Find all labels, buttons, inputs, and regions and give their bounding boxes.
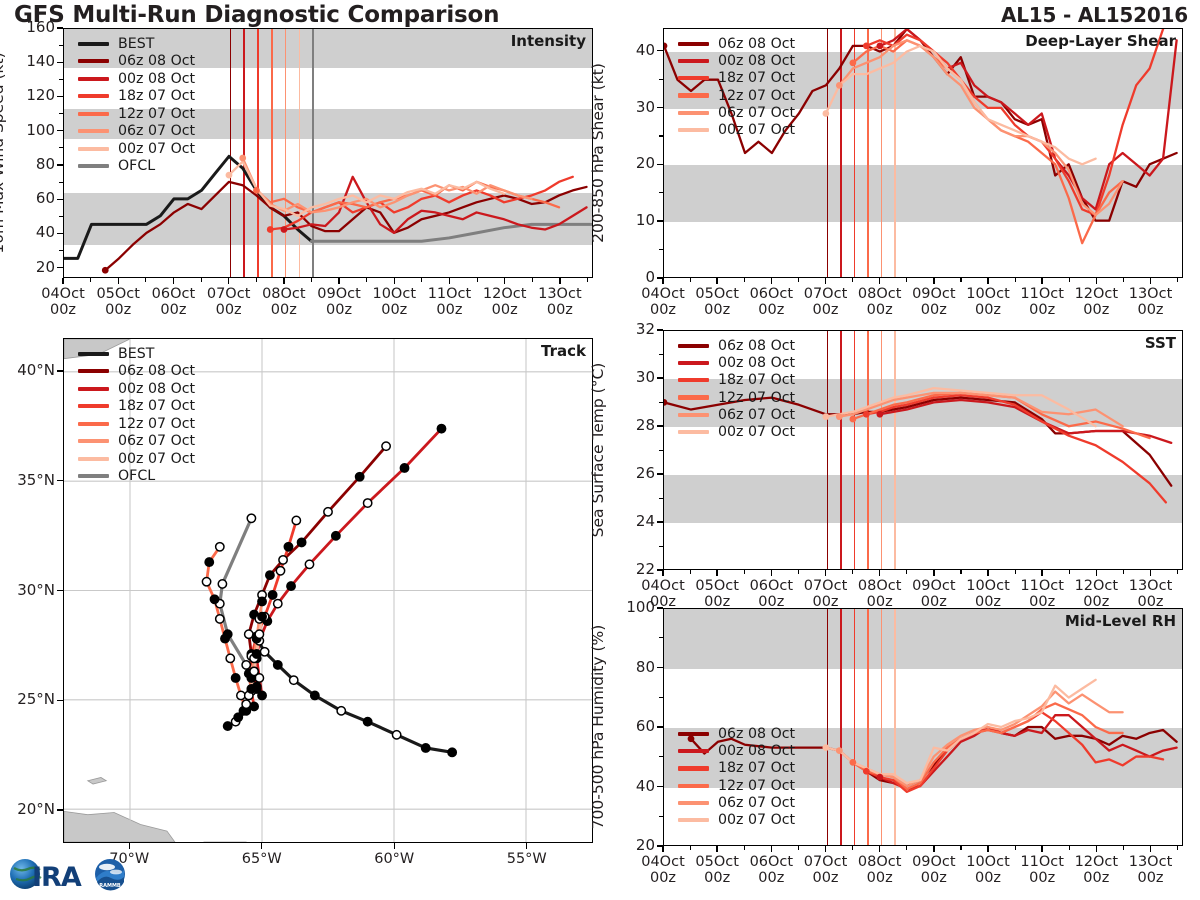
lat-tick-mark <box>57 480 63 481</box>
y-tick-label: 100 <box>9 121 55 139</box>
x-tick-day: 05Oct <box>695 854 739 870</box>
x-tick-hour: 00z <box>812 870 838 886</box>
lat-tick-label: 40°N <box>3 361 55 379</box>
legend-row: OFCL <box>78 468 195 486</box>
legend-label: 12z 07 Oct <box>718 778 795 794</box>
x-minor-tick <box>1123 278 1124 282</box>
track-marker-00z <box>210 595 218 603</box>
run-init-marker <box>876 774 883 781</box>
legend-swatch <box>78 164 109 168</box>
legend-swatch <box>678 128 709 132</box>
legend-label: 06z 07 Oct <box>118 123 195 139</box>
x-minor-tick <box>771 570 772 574</box>
y-tick-label: 20 <box>609 836 655 854</box>
y-minor-tick <box>59 96 63 97</box>
legend-label: 06z 07 Oct <box>718 105 795 121</box>
intensity-panel-title: Intensity <box>511 32 586 50</box>
legend-row: 18z 07 Oct <box>678 372 795 389</box>
x-minor-tick <box>118 278 119 282</box>
track-marker-00z <box>223 722 231 730</box>
x-minor-tick <box>1177 846 1178 850</box>
legend-swatch <box>678 378 709 382</box>
lon-tick-label: 55°W <box>487 851 567 867</box>
x-tick-hour: 00z <box>105 302 131 318</box>
series-line <box>880 29 1177 209</box>
shear-panel-title: Deep-Layer Shear <box>1025 32 1176 50</box>
legend-sst: 06z 08 Oct00z 08 Oct18z 07 Oct12z 07 Oct… <box>678 337 795 441</box>
lat-tick-mark <box>57 809 63 810</box>
lat-tick-mark <box>57 370 63 371</box>
y-minor-tick <box>659 330 663 331</box>
y-tick-label: 60 <box>609 717 655 735</box>
x-tick-hour: 00z <box>921 302 947 318</box>
run-init-marker <box>849 59 856 66</box>
x-tick-day: 11Oct <box>1020 854 1064 870</box>
x-tick-hour: 00z <box>1083 302 1109 318</box>
track-marker-00z <box>231 674 239 682</box>
x-minor-tick <box>1042 278 1043 282</box>
track-marker-00z <box>297 538 305 546</box>
x-minor-tick <box>663 278 664 282</box>
lon-tick-mark <box>394 843 395 849</box>
y-minor-tick <box>59 250 63 251</box>
x-tick-day: 10Oct <box>966 286 1010 302</box>
legend-row: 00z 07 Oct <box>78 140 195 158</box>
legend-intensity: BEST06z 08 Oct00z 08 Oct18z 07 Oct12z 07… <box>78 35 195 175</box>
shear-panel: Deep-Layer Shear 06z 08 Oct00z 08 Oct18z… <box>663 28 1183 278</box>
track-marker-00z <box>287 582 295 590</box>
legend-label: 18z 07 Oct <box>718 760 795 776</box>
x-minor-tick <box>663 570 664 574</box>
legend-swatch <box>78 439 109 443</box>
x-tick-day: 06Oct <box>750 286 794 302</box>
x-minor-tick <box>504 278 505 282</box>
series-line <box>243 158 532 212</box>
y-tick-label: 10 <box>609 211 655 229</box>
y-minor-tick <box>59 199 63 200</box>
run-init-marker <box>664 42 667 49</box>
y-minor-tick <box>659 637 663 638</box>
legend-swatch <box>78 474 109 478</box>
x-minor-tick <box>879 570 880 574</box>
x-minor-tick <box>559 278 560 282</box>
x-minor-tick <box>1096 846 1097 850</box>
y-tick-label: 22 <box>609 560 655 578</box>
x-tick-day: 11Oct <box>428 286 472 302</box>
x-tick-hour: 00z <box>812 594 838 610</box>
x-minor-tick <box>421 278 422 282</box>
y-minor-tick <box>59 164 63 165</box>
legend-row: 06z 08 Oct <box>678 725 795 742</box>
x-minor-tick <box>717 278 718 282</box>
y-tick-label: 120 <box>9 86 55 104</box>
x-tick-day: 12Oct <box>483 286 527 302</box>
run-init-marker <box>863 42 870 49</box>
x-minor-tick <box>798 846 799 850</box>
x-tick-hour: 00z <box>758 594 784 610</box>
x-tick-day: 05Oct <box>695 286 739 302</box>
lon-tick-mark <box>261 843 262 849</box>
legend-swatch <box>678 430 709 434</box>
x-minor-tick <box>173 278 174 282</box>
x-minor-tick <box>744 570 745 574</box>
svg-text:IRA: IRA <box>32 862 82 893</box>
y-tick-label: 20 <box>9 258 55 276</box>
x-minor-tick <box>879 846 880 850</box>
track-marker-12z <box>276 567 284 575</box>
track-marker-00z <box>284 543 292 551</box>
legend-row: 06z 08 Oct <box>678 337 795 354</box>
y-minor-tick <box>659 498 663 499</box>
run-init-marker <box>239 155 246 162</box>
x-tick-label: 13Oct00z <box>1117 854 1185 886</box>
legend-shear: 06z 08 Oct00z 08 Oct18z 07 Oct12z 07 Oct… <box>678 35 795 139</box>
y-tick-label: 30 <box>609 98 655 116</box>
track-marker-00z <box>205 558 213 566</box>
x-tick-hour: 00z <box>381 302 407 318</box>
track-marker-00z <box>258 613 266 621</box>
lat-tick-label: 25°N <box>3 690 55 708</box>
legend-label: 00z 08 Oct <box>718 743 795 759</box>
x-minor-tick <box>825 278 826 282</box>
y-minor-tick <box>59 79 63 80</box>
x-tick-hour: 00z <box>867 594 893 610</box>
x-minor-tick <box>1123 846 1124 850</box>
y-tick-label: 26 <box>609 464 655 482</box>
y-minor-tick <box>59 130 63 131</box>
legend-swatch <box>678 818 709 822</box>
x-minor-tick <box>960 570 961 574</box>
legend-row: 12z 07 Oct <box>678 87 795 104</box>
track-marker-12z <box>382 442 390 450</box>
x-tick-hour: 00z <box>50 302 76 318</box>
track-marker-00z <box>266 571 274 579</box>
track-marker-00z <box>258 691 266 699</box>
track-marker-00z <box>274 661 282 669</box>
legend-label: 00z 08 Oct <box>718 355 795 371</box>
legend-row: OFCL <box>78 158 195 176</box>
y-tick-label: 30 <box>609 368 655 386</box>
x-minor-tick <box>1069 570 1070 574</box>
x-minor-tick <box>1150 846 1151 850</box>
x-tick-hour: 00z <box>758 870 784 886</box>
legend-swatch <box>678 344 709 348</box>
legend-row: 00z 08 Oct <box>678 743 795 760</box>
legend-swatch <box>678 42 709 46</box>
track-marker-00z <box>400 464 408 472</box>
x-tick-label: 13Oct00z <box>1117 578 1185 610</box>
track-marker-12z <box>292 516 300 524</box>
x-tick-hour: 00z <box>1083 870 1109 886</box>
x-tick-day: 13Oct <box>1129 286 1173 302</box>
x-minor-tick <box>825 846 826 850</box>
run-init-marker <box>664 399 667 406</box>
legend-swatch <box>678 93 709 97</box>
y-minor-tick <box>659 192 663 193</box>
x-tick-hour: 00z <box>271 302 297 318</box>
y-tick-label: 80 <box>9 155 55 173</box>
x-tick-day: 06Oct <box>750 854 794 870</box>
track-marker-00z <box>437 424 445 432</box>
legend-label: BEST <box>118 346 154 362</box>
legend-swatch <box>678 59 709 63</box>
x-minor-tick <box>283 278 284 282</box>
legend-row: 00z 08 Oct <box>78 380 195 398</box>
run-init-marker <box>849 759 856 766</box>
track-marker-12z <box>242 700 250 708</box>
rh-panel: Mid-Level RH 06z 08 Oct00z 08 Oct18z 07 … <box>663 608 1183 846</box>
x-tick-hour: 00z <box>704 870 730 886</box>
series-line <box>839 692 1122 786</box>
x-tick-day: 10Oct <box>966 578 1010 594</box>
x-tick-hour: 00z <box>1137 594 1163 610</box>
x-tick-day: 09Oct <box>912 286 956 302</box>
x-tick-hour: 00z <box>867 302 893 318</box>
x-tick-day: 05Oct <box>695 578 739 594</box>
legend-row: 12z 07 Oct <box>78 415 195 433</box>
x-minor-tick <box>145 278 146 282</box>
run-init-marker <box>822 744 829 751</box>
legend-swatch <box>78 352 109 356</box>
y-minor-tick <box>659 354 663 355</box>
legend-label: 00z 07 Oct <box>118 141 195 157</box>
x-tick-hour: 00z <box>216 302 242 318</box>
legend-row: 12z 07 Oct <box>678 389 795 406</box>
legend-swatch <box>678 395 709 399</box>
x-tick-day: 08Oct <box>858 578 902 594</box>
y-minor-tick <box>659 450 663 451</box>
x-tick-day: 08Oct <box>858 854 902 870</box>
x-tick-hour: 00z <box>492 302 518 318</box>
legend-label: OFCL <box>118 158 155 174</box>
x-minor-tick <box>988 570 989 574</box>
x-minor-tick <box>228 278 229 282</box>
legend-swatch <box>78 457 109 461</box>
x-tick-hour: 00z <box>326 302 352 318</box>
x-tick-label: 13Oct00z <box>526 286 594 318</box>
x-minor-tick <box>798 570 799 574</box>
y-minor-tick <box>659 402 663 403</box>
y-minor-tick <box>659 786 663 787</box>
x-minor-tick <box>690 278 691 282</box>
track-marker-00z <box>250 702 258 710</box>
y-minor-tick <box>659 522 663 523</box>
x-minor-tick <box>1069 278 1070 282</box>
y-tick-label: 40 <box>609 41 655 59</box>
run-init-marker <box>863 768 870 775</box>
track-marker-12z <box>226 654 234 662</box>
y-minor-tick <box>659 164 663 165</box>
y-minor-tick <box>659 50 663 51</box>
legend-swatch <box>678 413 709 417</box>
y-minor-tick <box>659 608 663 609</box>
lon-tick-mark <box>526 843 527 849</box>
y-axis-label: 700-500 hPa Humidity (%) <box>589 625 607 830</box>
legend-label: 12z 07 Oct <box>718 88 795 104</box>
y-tick-label: 140 <box>9 52 55 70</box>
x-tick-day: 08Oct <box>262 286 306 302</box>
track-marker-12z <box>324 508 332 516</box>
legend-label: 18z 07 Oct <box>118 398 195 414</box>
x-tick-hour: 00z <box>704 302 730 318</box>
y-minor-tick <box>59 267 63 268</box>
legend-label: 06z 08 Oct <box>718 726 795 742</box>
y-minor-tick <box>659 816 663 817</box>
lon-tick-label: 65°W <box>222 851 302 867</box>
legend-row: 00z 07 Oct <box>678 121 795 138</box>
x-minor-tick <box>960 846 961 850</box>
x-tick-day: 09Oct <box>912 578 956 594</box>
y-tick-label: 40 <box>609 777 655 795</box>
legend-label: 18z 07 Oct <box>718 70 795 86</box>
y-minor-tick <box>59 62 63 63</box>
track-marker-12z <box>255 630 263 638</box>
x-minor-tick <box>852 570 853 574</box>
x-minor-tick <box>477 278 478 282</box>
x-tick-hour: 00z <box>160 302 186 318</box>
legend-label: 06z 08 Oct <box>718 338 795 354</box>
y-minor-tick <box>659 426 663 427</box>
series-line <box>866 395 1166 502</box>
x-minor-tick <box>988 278 989 282</box>
legend-label: 18z 07 Oct <box>718 372 795 388</box>
run-init-marker <box>822 413 829 420</box>
legend-row: 06z 07 Oct <box>78 123 195 141</box>
x-minor-tick <box>663 846 664 850</box>
run-init-marker <box>226 172 233 179</box>
x-minor-tick <box>449 278 450 282</box>
cira-logo: IRA RAMMB <box>6 848 134 896</box>
x-tick-day: 08Oct <box>858 286 902 302</box>
y-minor-tick <box>59 233 63 234</box>
legend-swatch <box>78 77 109 81</box>
x-tick-hour: 00z <box>1029 870 1055 886</box>
x-tick-hour: 00z <box>704 594 730 610</box>
x-tick-day: 13Oct <box>538 286 582 302</box>
legend-label: 06z 07 Oct <box>118 433 195 449</box>
x-minor-tick <box>1042 570 1043 574</box>
legend-swatch <box>78 129 109 133</box>
track-marker-00z <box>268 591 276 599</box>
x-minor-tick <box>744 846 745 850</box>
run-init-marker <box>281 226 288 233</box>
y-minor-tick <box>659 107 663 108</box>
x-tick-hour: 00z <box>1137 870 1163 886</box>
legend-label: 18z 07 Oct <box>118 88 195 104</box>
track-marker-12z <box>279 556 287 564</box>
legend-swatch <box>78 42 109 46</box>
x-minor-tick <box>852 278 853 282</box>
track-marker-12z <box>245 630 253 638</box>
legend-label: BEST <box>118 36 154 52</box>
storm-id-label: AL15 - AL152016 <box>1001 3 1188 27</box>
legend-swatch <box>78 422 109 426</box>
legend-swatch <box>78 369 109 373</box>
legend-row: 18z 07 Oct <box>678 70 795 87</box>
run-init-marker <box>849 416 856 423</box>
run-init-marker <box>876 411 883 418</box>
run-init-marker <box>267 226 274 233</box>
track-marker-12z <box>237 691 245 699</box>
legend-row: 06z 07 Oct <box>678 104 795 121</box>
x-minor-tick <box>717 846 718 850</box>
legend-label: 06z 08 Oct <box>118 363 195 379</box>
x-tick-day: 07Oct <box>804 854 848 870</box>
lat-tick-label: 30°N <box>3 581 55 599</box>
legend-label: 06z 07 Oct <box>718 795 795 811</box>
legend-swatch <box>678 361 709 365</box>
x-tick-hour: 00z <box>1029 302 1055 318</box>
legend-swatch <box>78 94 109 98</box>
x-tick-day: 06Oct <box>152 286 196 302</box>
legend-swatch <box>678 801 709 805</box>
legend-label: 00z 08 Oct <box>118 381 195 397</box>
x-minor-tick <box>906 846 907 850</box>
track-marker-12z <box>218 580 226 588</box>
x-minor-tick <box>201 278 202 282</box>
legend-label: OFCL <box>118 468 155 484</box>
track-marker-12z <box>216 615 224 623</box>
y-tick-label: 24 <box>609 512 655 530</box>
y-tick-label: 40 <box>9 223 55 241</box>
x-tick-hour: 00z <box>867 870 893 886</box>
y-tick-label: 100 <box>609 598 655 616</box>
track-marker-12z <box>392 731 400 739</box>
x-tick-hour: 00z <box>547 302 573 318</box>
track-marker-12z <box>260 648 268 656</box>
legend-swatch <box>78 147 109 151</box>
x-minor-tick <box>690 846 691 850</box>
x-minor-tick <box>1096 570 1097 574</box>
x-tick-day: 05Oct <box>96 286 140 302</box>
x-minor-tick <box>960 278 961 282</box>
sst-panel-title: SST <box>1145 334 1176 352</box>
track-marker-12z <box>250 667 258 675</box>
legend-row: 06z 07 Oct <box>678 406 795 423</box>
legend-label: 12z 07 Oct <box>718 390 795 406</box>
x-tick-hour: 00z <box>921 870 947 886</box>
legend-label: 00z 07 Oct <box>118 451 195 467</box>
y-minor-tick <box>659 249 663 250</box>
rh-panel-title: Mid-Level RH <box>1065 612 1176 630</box>
run-init-marker <box>863 411 870 418</box>
legend-label: 00z 07 Oct <box>718 122 795 138</box>
legend-swatch <box>78 59 109 63</box>
legend-label: 00z 07 Oct <box>718 812 795 828</box>
x-minor-tick <box>587 278 588 282</box>
y-minor-tick <box>59 113 63 114</box>
x-tick-hour: 00z <box>1083 594 1109 610</box>
legend-swatch <box>678 732 709 736</box>
track-marker-00z <box>311 691 319 699</box>
x-minor-tick <box>90 278 91 282</box>
track-marker-00z <box>247 685 255 693</box>
x-tick-day: 13Oct <box>1129 578 1173 594</box>
y-axis-label: 200-850 hPa Shear (kt) <box>589 63 607 243</box>
legend-row: 00z 07 Oct <box>78 450 195 468</box>
x-tick-day: 04Oct <box>41 286 85 302</box>
legend-row: 00z 08 Oct <box>678 52 795 69</box>
legend-label: 06z 08 Oct <box>118 53 195 69</box>
x-tick-hour: 00z <box>758 302 784 318</box>
track-panel-title: Track <box>541 342 586 360</box>
y-minor-tick <box>659 697 663 698</box>
legend-label: 00z 08 Oct <box>718 53 795 69</box>
legend-swatch <box>678 76 709 80</box>
track-marker-00z <box>363 717 371 725</box>
y-tick-label: 20 <box>609 154 655 172</box>
x-tick-hour: 00z <box>975 870 1001 886</box>
